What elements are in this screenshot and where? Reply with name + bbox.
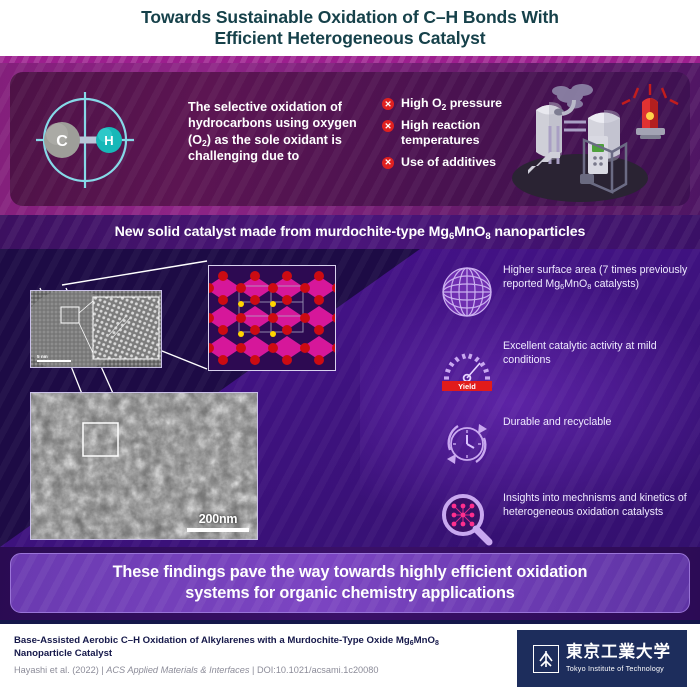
conclusion-line-2: systems for organic chemistry applicatio… xyxy=(30,583,670,604)
bullet-sub: 2 xyxy=(442,102,447,112)
title-line-1: Towards Sustainable Oxidation of C–H Bon… xyxy=(30,7,670,28)
o-subscript: 8 xyxy=(587,282,591,291)
conclusion-section: These findings pave the way towards high… xyxy=(0,547,700,620)
list-item: Durable and recyclable xyxy=(437,414,695,476)
paper-title-a: Base-Assisted Aerobic C–H Oxidation of A… xyxy=(14,635,410,646)
feature-list: Higher surface area (7 times previously … xyxy=(437,262,695,566)
gauge-label: Yield xyxy=(458,382,476,391)
banner-part-b: MnO xyxy=(454,224,485,240)
list-item: Higher surface area (7 times previously … xyxy=(437,262,695,324)
doi[interactable]: DOI:10.1021/acsami.1c20080 xyxy=(257,665,379,675)
clock-recycle-icon xyxy=(437,414,497,474)
logo-japanese-text: 東京工業大学 xyxy=(566,644,671,661)
banner-part-a: New solid catalyst made from murdochite-… xyxy=(115,224,449,240)
hrtem-micrograph: 5 nm xyxy=(30,290,162,368)
crystal-structure-model xyxy=(208,265,336,371)
title-divider-stripe xyxy=(0,56,700,63)
magnifier-lattice-icon xyxy=(437,490,497,550)
bullet-text: High O2 pressure xyxy=(401,96,502,111)
problem-statement-part-b: ) as the sole oxidant is challenging due… xyxy=(188,133,342,163)
problem-section: C H The selective oxidation of hydrocarb… xyxy=(0,63,700,215)
hrtem-scale-line xyxy=(37,360,71,362)
sem-scale-label: 200nm xyxy=(187,512,249,526)
conclusion-line-1: These findings pave the way towards high… xyxy=(30,562,670,583)
o-subscript: 8 xyxy=(435,640,439,647)
tokyo-tech-logo: 東京工業大学 Tokyo Institute of Technology xyxy=(517,630,687,687)
page-title: Towards Sustainable Oxidation of C–H Bon… xyxy=(30,7,670,50)
graphical-abstract: Towards Sustainable Oxidation of C–H Bon… xyxy=(0,0,700,700)
separator: | xyxy=(249,665,257,675)
alarm-beacon xyxy=(622,84,678,139)
sem-scale-bar: 200nm xyxy=(187,512,249,532)
mg-subscript: 6 xyxy=(449,231,454,242)
banner-part-c: nanoparticles xyxy=(491,224,586,240)
yield-gauge-icon: Yield xyxy=(437,338,497,398)
feature-text-b: MnO xyxy=(564,278,587,290)
logo-mark-icon xyxy=(533,645,559,673)
footer-divider xyxy=(0,620,700,624)
mg-subscript: 6 xyxy=(560,282,564,291)
journal-name: ACS Applied Materials & Interfaces xyxy=(106,665,249,675)
hrtem-scale-bar: 5 nm xyxy=(37,354,71,362)
catalyst-banner: New solid catalyst made from murdochite-… xyxy=(0,215,700,249)
o-subscript: 8 xyxy=(485,231,490,242)
logo-english-text: Tokyo Institute of Technology xyxy=(566,664,671,673)
problem-panel: C H The selective oxidation of hydrocarb… xyxy=(10,72,690,206)
sphere-surface-area-icon xyxy=(437,262,497,322)
cross-icon: ✕ xyxy=(382,98,394,110)
bullet-text-a: High O xyxy=(401,96,442,110)
feature-text: Insights into mechnisms and kinetics of … xyxy=(497,490,695,520)
citation-meta: Hayashi et al. (2022) | ACS Applied Mate… xyxy=(14,665,494,675)
catalyst-banner-text: New solid catalyst made from murdochite-… xyxy=(115,224,586,240)
authors: Hayashi et al. (2022) xyxy=(14,665,99,675)
feature-text-c: catalysts) xyxy=(591,278,639,290)
sem-micrograph: 200nm xyxy=(30,392,258,540)
conclusion-text: These findings pave the way towards high… xyxy=(30,562,670,603)
paper-title-c: Nanoparticle Catalyst xyxy=(14,648,112,659)
problem-statement: The selective oxidation of hydrocarbons … xyxy=(188,99,370,164)
title-bar: Towards Sustainable Oxidation of C–H Bon… xyxy=(0,0,700,56)
bullet-text: Use of additives xyxy=(401,155,496,170)
citation: Base-Assisted Aerobic C–H Oxidation of A… xyxy=(14,634,494,675)
feature-text: Durable and recyclable xyxy=(497,414,611,430)
hrtem-scale-label: 5 nm xyxy=(37,354,71,359)
ch-bond-crosshair-icon: C H xyxy=(28,84,150,196)
conclusion-banner: These findings pave the way towards high… xyxy=(10,553,690,613)
mg-subscript: 6 xyxy=(410,640,414,647)
bullet-text-b: pressure xyxy=(446,96,502,110)
cross-icon: ✕ xyxy=(382,120,394,132)
sem-scale-line xyxy=(187,528,249,532)
list-item: Yield Excellent catalytic activity at mi… xyxy=(437,338,695,400)
paper-title: Base-Assisted Aerobic C–H Oxidation of A… xyxy=(14,634,494,660)
hydrogen-atom-label: H xyxy=(104,133,113,148)
list-item: Insights into mechnisms and kinetics of … xyxy=(437,490,695,552)
title-line-2: Efficient Heterogeneous Catalyst xyxy=(30,28,670,49)
feature-text: Excellent catalytic activity at mild con… xyxy=(497,338,695,368)
feature-text: Higher surface area (7 times previously … xyxy=(497,262,695,292)
cross-icon: ✕ xyxy=(382,157,394,169)
paper-title-b: MnO xyxy=(414,635,435,646)
o2-subscript: 2 xyxy=(202,138,207,148)
carbon-atom-label: C xyxy=(56,133,68,150)
industrial-plant-illustration xyxy=(504,74,684,206)
